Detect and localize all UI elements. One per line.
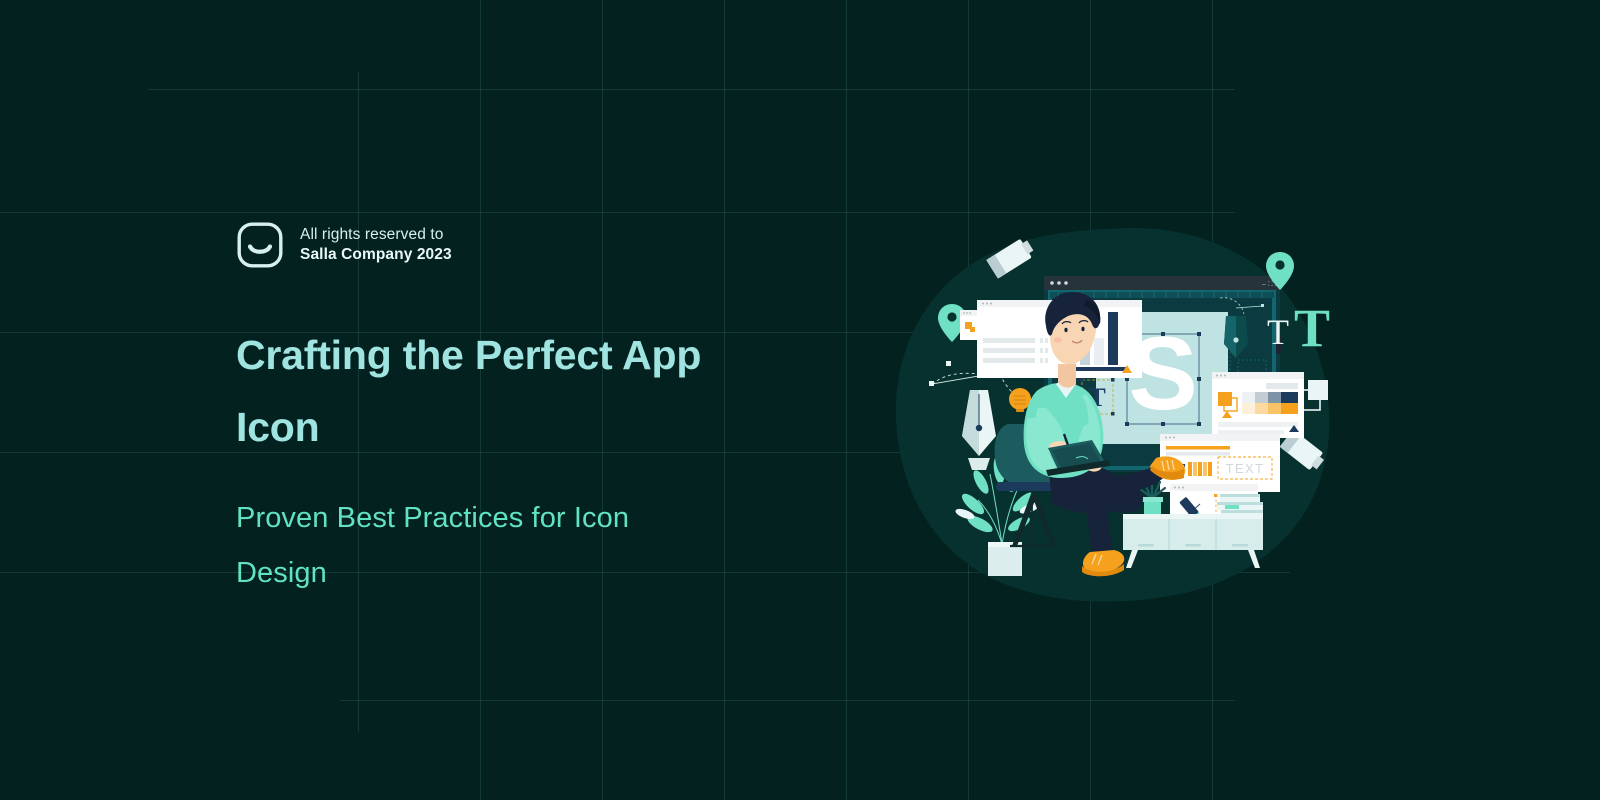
color-palette-panel — [1212, 372, 1304, 438]
page-subtitle: Proven Best Practices for Icon Design — [236, 491, 666, 601]
stacked-books — [1217, 494, 1263, 518]
designer-workspace-illustration: – ⛶ ✕ — [880, 212, 1350, 612]
company-name-text: Salla Company 2023 — [300, 245, 452, 265]
brand-block: All rights reserved to Salla Company 202… — [236, 214, 876, 276]
svg-text:T: T — [1294, 298, 1330, 358]
shoe-lower — [1082, 550, 1124, 576]
brand-text-block: All rights reserved to Salla Company 202… — [300, 225, 452, 266]
page-title: Crafting the Perfect App Icon — [236, 320, 726, 464]
rights-reserved-text: All rights reserved to — [300, 225, 452, 245]
gridline-horizontal — [148, 89, 1235, 90]
svg-text:T: T — [1267, 312, 1289, 352]
cover-stage: All rights reserved to Salla Company 202… — [0, 0, 1600, 800]
hero-text-column: All rights reserved to Salla Company 202… — [236, 214, 876, 625]
text-label: TEXT — [1226, 461, 1265, 476]
gridline-horizontal — [340, 700, 1235, 701]
salla-logo-icon — [236, 221, 284, 269]
